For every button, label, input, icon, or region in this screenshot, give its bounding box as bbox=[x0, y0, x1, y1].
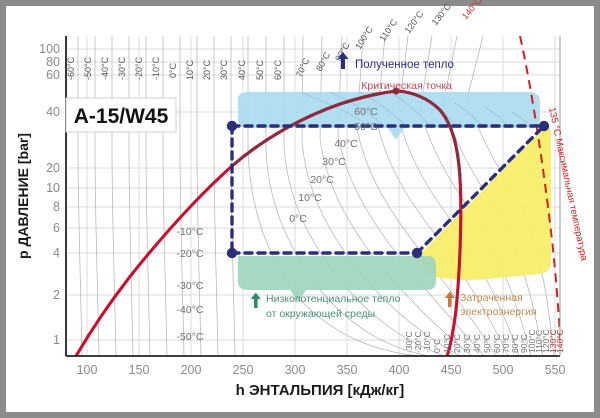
isotherm-label-bottom: 50°C bbox=[482, 334, 492, 353]
isotherm-label-bottom: 0°C bbox=[432, 339, 442, 353]
y-tick: 40 bbox=[46, 105, 60, 119]
y-axis-title: p ДАВЛЕНИЕ [bar] bbox=[15, 133, 31, 259]
isotherm-label-top: 140°C bbox=[460, 0, 484, 21]
annotation-critical-point: Критическая точка bbox=[361, 80, 452, 92]
isotherm-label-inner: -30°C bbox=[177, 280, 204, 292]
cycle-point-4 bbox=[227, 248, 237, 258]
x-tick-labels: 100 150 200 250 300 350 400 450 500 550 bbox=[77, 363, 566, 377]
isotherm-label-bottom: 30°C bbox=[462, 334, 472, 353]
isotherm-label-inner: -20°C bbox=[177, 248, 204, 260]
isotherm-label-bottom: -10°C bbox=[422, 331, 432, 353]
isotherm-label-top: 20°C bbox=[202, 59, 212, 80]
isotherm-label-top: 30°C bbox=[219, 59, 229, 80]
y-tick: 1 bbox=[53, 333, 60, 347]
isotherm-label-inner: 30°C bbox=[322, 156, 346, 168]
y-tick-labels: 100 80 60 40 20 10 8 6 4 2 1 bbox=[39, 42, 60, 347]
isotherm-label-top: -10°C bbox=[151, 56, 161, 80]
isotherm-label-top: 10°C bbox=[185, 59, 195, 80]
x-tick: 250 bbox=[233, 363, 254, 377]
annotation-work-line1: Затраченная bbox=[460, 292, 523, 304]
isotherm-label-inner: 10°C bbox=[298, 192, 322, 204]
annotation-heat-in-line2: от окружающей среды bbox=[266, 308, 375, 320]
isotherm-label-inner: 0°C bbox=[289, 213, 307, 225]
x-tick: 450 bbox=[441, 363, 462, 377]
isotherm-label-top: -60°C bbox=[66, 56, 76, 80]
y-tick: 100 bbox=[39, 42, 60, 56]
isotherm-label-inner: 40°C bbox=[334, 138, 358, 150]
isotherm-label-top: -30°C bbox=[117, 56, 127, 80]
isotherm-label-top: 120°C bbox=[403, 9, 426, 36]
y-tick: 80 bbox=[46, 55, 60, 69]
x-tick: 550 bbox=[545, 363, 566, 377]
isotherm-label-top: 40°C bbox=[237, 59, 247, 80]
isotherm-label-top: 60°C bbox=[273, 59, 283, 80]
y-tick: 20 bbox=[46, 161, 60, 175]
isotherm-label-bottom: 40°C bbox=[472, 334, 482, 353]
annotation-heat-in-line1: Низкопотенциальное тепло bbox=[266, 293, 401, 305]
isotherm-label-bottom: 10°C bbox=[442, 334, 452, 353]
isotherm-label-top: 0°C bbox=[168, 62, 178, 78]
isotherm-label-inner: 60°C bbox=[354, 106, 378, 118]
x-tick: 350 bbox=[337, 363, 358, 377]
isotherm-label-inner: -40°C bbox=[177, 304, 204, 316]
y-tick: 60 bbox=[46, 68, 60, 82]
x-tick: 300 bbox=[285, 363, 306, 377]
cycle-point-1 bbox=[412, 248, 422, 258]
x-tick: 500 bbox=[493, 363, 514, 377]
annotation-work-line2: электроэнергия bbox=[460, 306, 537, 318]
cycle-point-2 bbox=[539, 121, 549, 131]
x-tick: 200 bbox=[181, 363, 202, 377]
isotherm-label-inner: 20°C bbox=[310, 174, 334, 186]
isotherm-label-top: -50°C bbox=[83, 56, 93, 80]
isotherm-label-bottom: 140°C bbox=[555, 329, 565, 353]
isotherm-label-top: 50°C bbox=[255, 59, 265, 80]
y-tick: 10 bbox=[46, 181, 60, 195]
isotherm-label-top: 130°C bbox=[430, 1, 454, 27]
isotherm-label-inner: -10°C bbox=[177, 226, 204, 238]
x-tick: 150 bbox=[129, 363, 150, 377]
isotherm-label-bottom: 20°C bbox=[452, 334, 462, 353]
annotation-heat-out: Полученное тепло bbox=[355, 59, 454, 71]
x-tick: 400 bbox=[389, 363, 410, 377]
y-tick: 4 bbox=[53, 246, 60, 260]
y-tick: 6 bbox=[53, 221, 60, 235]
x-tick: 100 bbox=[77, 363, 98, 377]
isotherm-label-top: -40°C bbox=[100, 56, 110, 80]
cycle-point-3 bbox=[227, 121, 237, 131]
model-badge-label: A-15/W45 bbox=[74, 105, 169, 128]
isotherm-label-inner: -50°C bbox=[177, 331, 204, 343]
x-axis-title: h ЭНТАЛЬПИЯ [кДж/кг] bbox=[236, 382, 405, 399]
chart-root: 100 80 60 40 20 10 8 6 4 2 1 100 150 200… bbox=[0, 0, 600, 418]
isotherm-label-top: -20°C bbox=[134, 56, 144, 80]
y-tick: 2 bbox=[53, 288, 60, 302]
isotherm-label-inner: 50°C bbox=[354, 121, 378, 133]
chart-canvas: 100 80 60 40 20 10 8 6 4 2 1 100 150 200… bbox=[0, 0, 600, 418]
y-tick: 8 bbox=[53, 200, 60, 214]
